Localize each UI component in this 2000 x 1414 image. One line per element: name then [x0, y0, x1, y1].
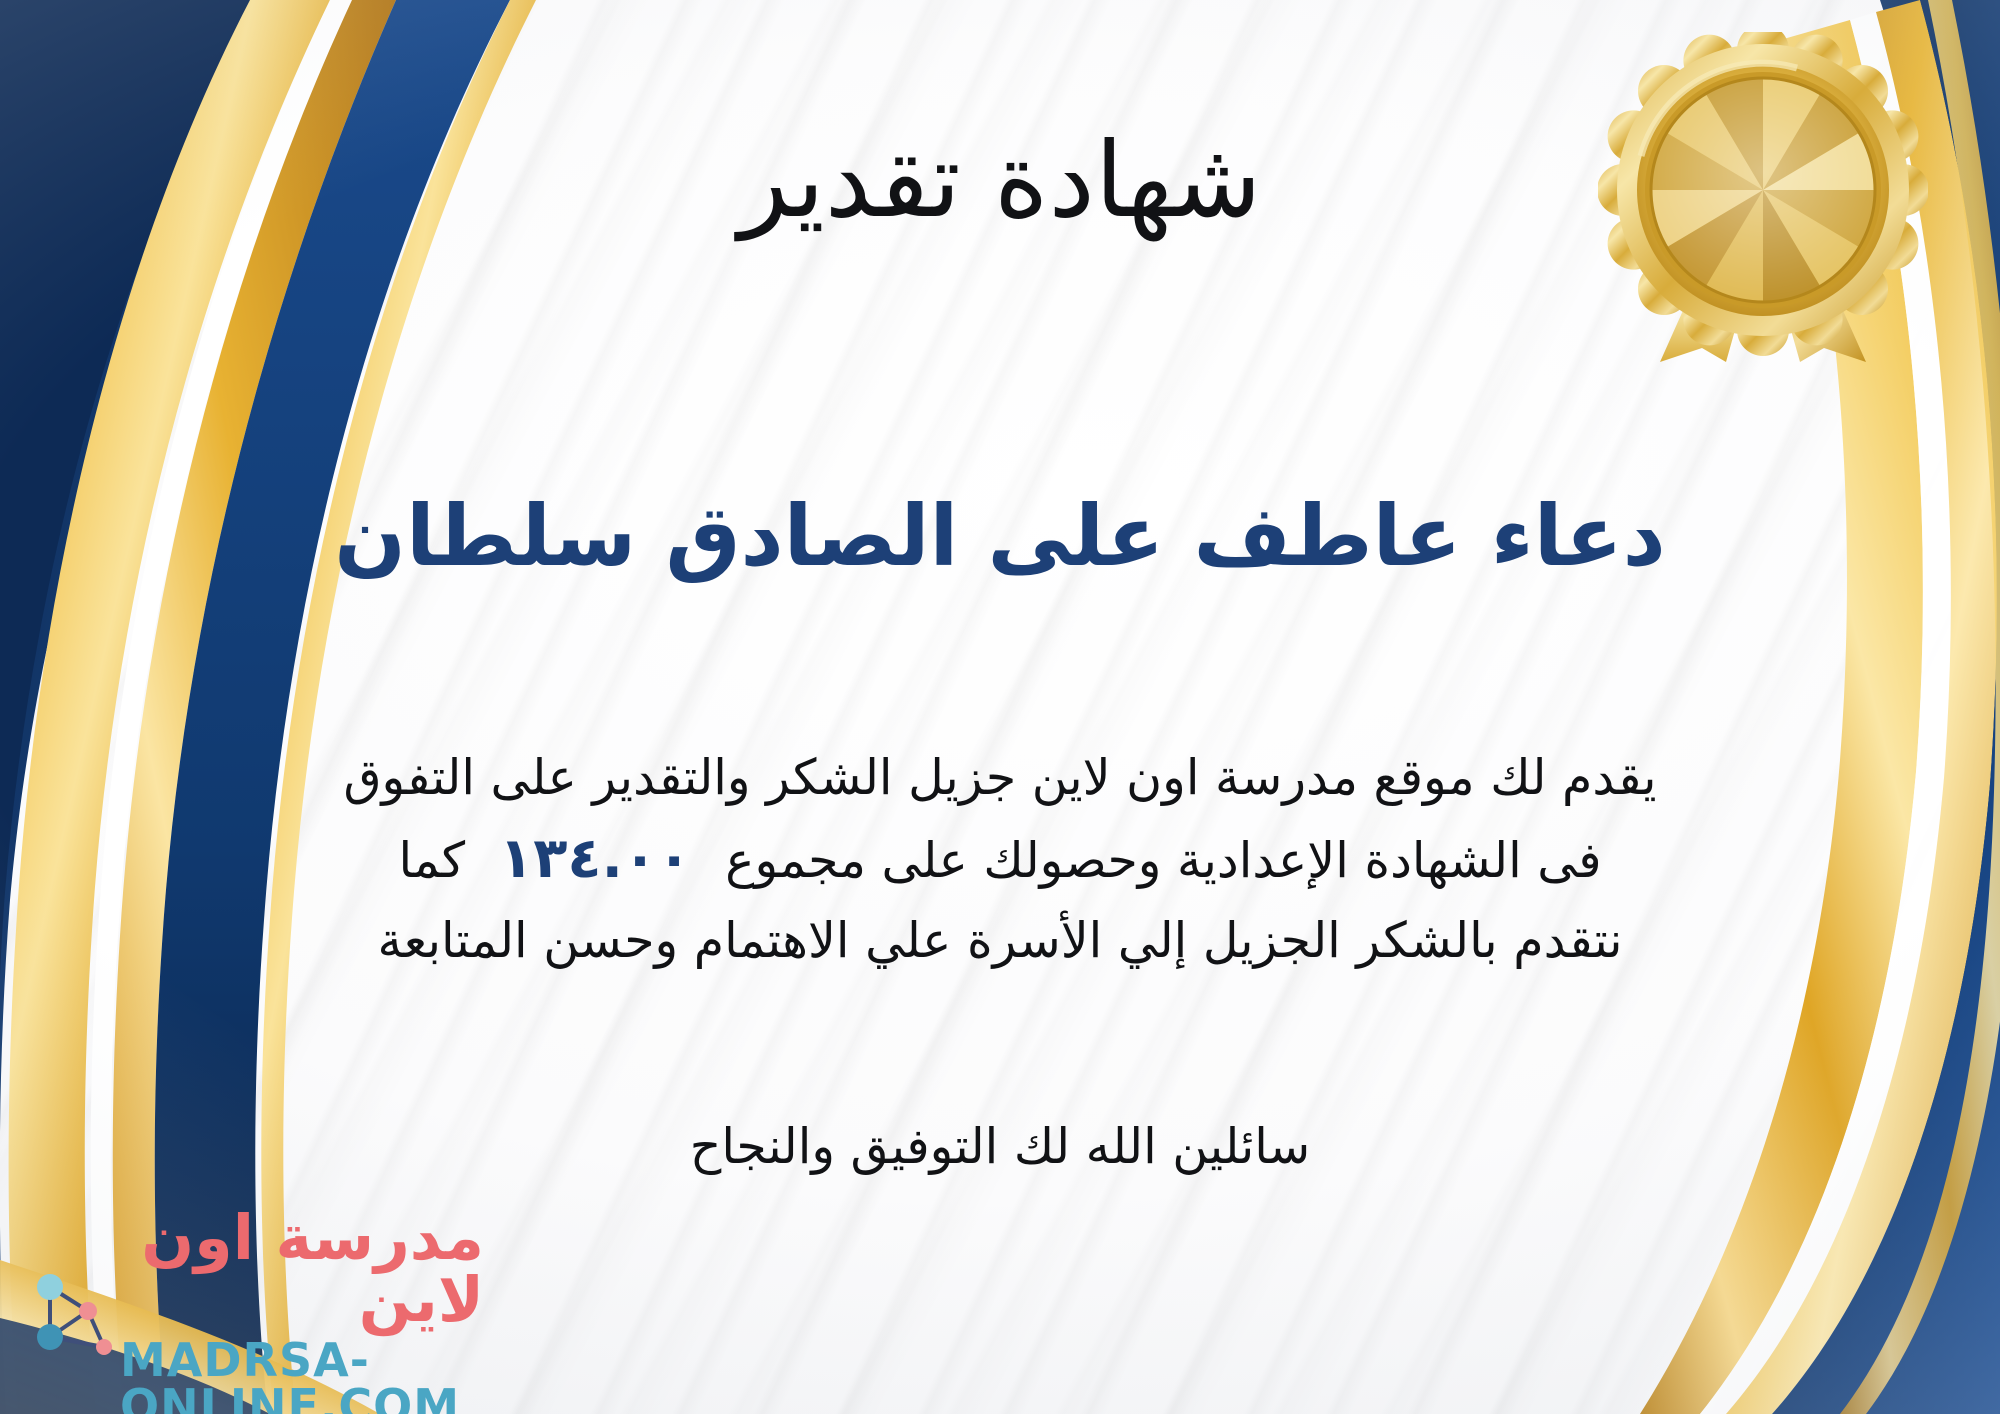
body-line-3: نتقدم بالشكر الجزيل إلي الأسرة علي الاهت… — [90, 903, 1910, 979]
logo-arabic-name: مدرسة اون لاين — [120, 1207, 484, 1331]
grade-total-value: ١٣٤.٠٠ — [465, 826, 725, 891]
logo-domain: MADRSA-ONLINE.COM — [120, 1337, 484, 1414]
body-line-2-prefix: فى الشهادة الإعدادية وحصولك على مجموع — [725, 832, 1601, 889]
student-name: دعاء عاطف على الصادق سلطان — [0, 490, 2000, 582]
certificate-body: يقدم لك موقع مدرسة اون لاين جزيل الشكر و… — [90, 740, 1910, 979]
closing-line: سائلين الله لك التوفيق والنجاح — [0, 1118, 2000, 1175]
logo-text-group: مدرسة اون لاين MADRSA-ONLINE.COM — [120, 1207, 484, 1414]
network-nodes-icon — [24, 1263, 116, 1373]
certificate-page: شهادة تقدير دعاء عاطف على الصادق سلطان ي… — [0, 0, 2000, 1414]
certificate-title: شهادة تقدير — [0, 126, 2000, 235]
body-line-1: يقدم لك موقع مدرسة اون لاين جزيل الشكر و… — [90, 740, 1910, 816]
site-logo[interactable]: مدرسة اون لاين MADRSA-ONLINE.COM — [24, 1238, 484, 1398]
body-line-2: فى الشهادة الإعدادية وحصولك على مجموع١٣٤… — [90, 816, 1910, 903]
body-line-2-suffix: كما — [398, 832, 465, 889]
